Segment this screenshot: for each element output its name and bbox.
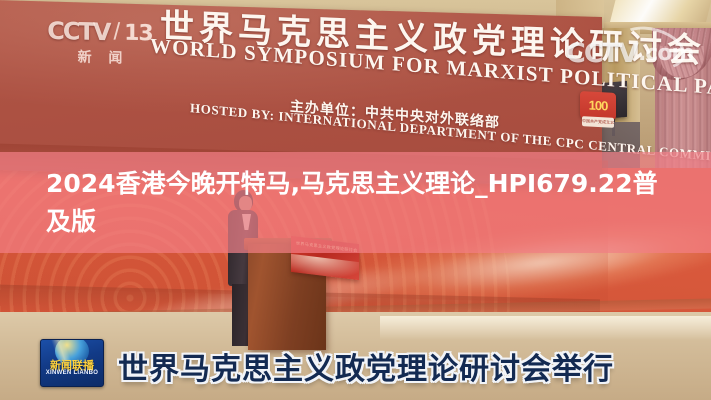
video-frame: 世界马克思主义政党理论研讨会 世界马克思主义政党理论研讨会 WORLD SYMP… — [0, 0, 711, 400]
cctv13-subtitle: 新 闻 — [44, 46, 156, 69]
cpc-centenary-emblem: 100 中国共产党成立100周年 — [580, 91, 616, 135]
cctv13-logo: CCTV / 13 新 闻 — [44, 17, 156, 70]
cctv-wordmark: CCTV — [47, 17, 109, 47]
caption-overlay-text: 2024香港今晚开特马,马克思主义理论_HPI679.22普及版 — [0, 152, 711, 253]
emblem-ribbon: 中国共产党成立100周年 — [582, 116, 614, 128]
xinwen-lianbo-logo: 新闻联播 XINWEN LIANBO — [40, 339, 104, 387]
news-headline: 世界马克思主义政党理论研讨会举行 — [118, 344, 614, 388]
cctv-slash-icon: / — [113, 18, 120, 46]
cctv13-logo-row: CCTV / 13 — [44, 17, 156, 48]
cctv-channel-number: 13 — [124, 20, 153, 46]
xinwen-lianbo-label-en: XINWEN LIANBO — [41, 370, 103, 376]
floor-reflection — [380, 316, 711, 340]
